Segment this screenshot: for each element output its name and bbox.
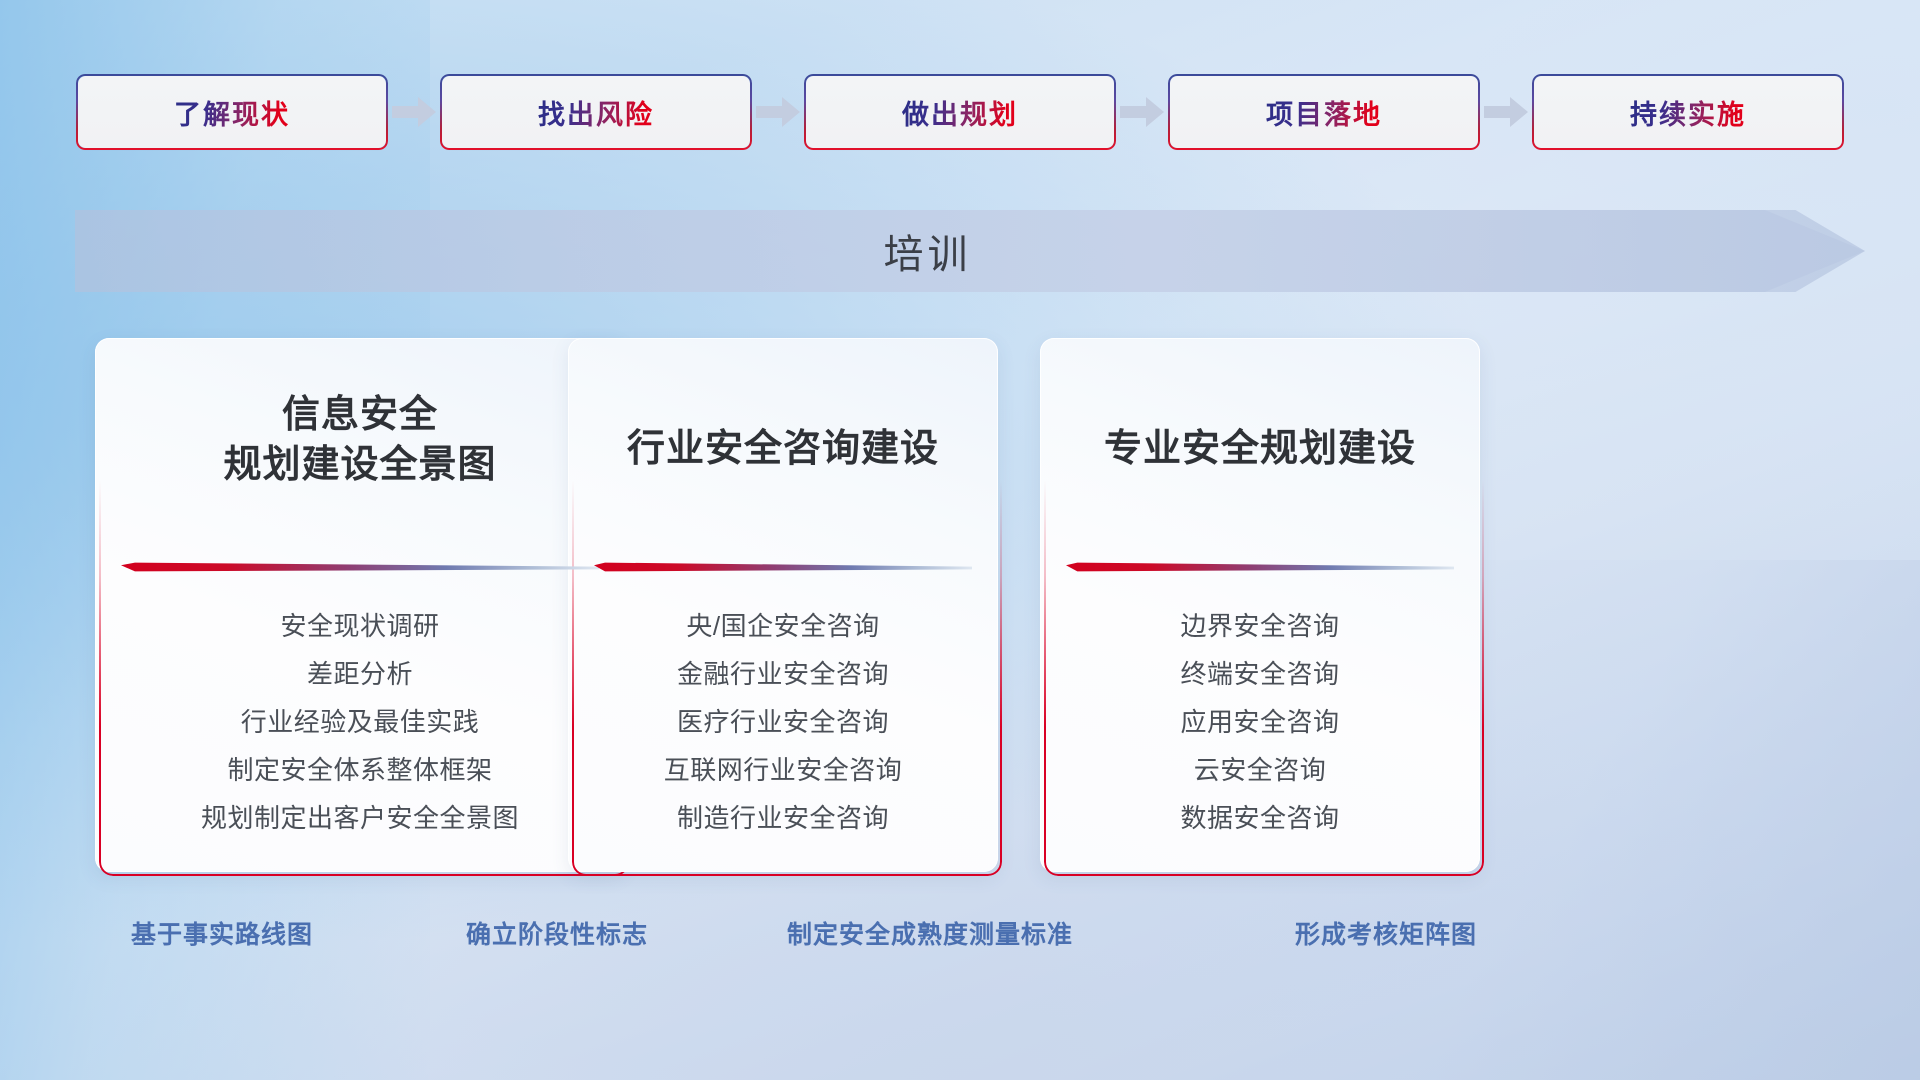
list-item: 制造行业安全咨询	[594, 794, 972, 842]
list-item: 行业经验及最佳实践	[121, 698, 599, 746]
card-title-zone: 信息安全 规划建设全景图	[121, 372, 599, 500]
caption-1: 基于事实路线图	[131, 915, 313, 951]
card-title: 行业安全咨询建设	[627, 424, 939, 474]
caption-2: 确立阶段性标志	[466, 915, 648, 951]
step-arrow-4	[1478, 76, 1534, 148]
right-arrow-icon	[756, 97, 800, 127]
list-item: 金融行业安全咨询	[594, 650, 972, 698]
list-item: 数据安全咨询	[1066, 794, 1454, 842]
step-chip-4[interactable]: 项目落地	[1170, 76, 1478, 148]
step-label: 项目落地	[1266, 93, 1382, 132]
step-arrow-3	[1114, 76, 1170, 148]
panel-card-3[interactable]: 专业安全规划建设	[1040, 338, 1480, 872]
panel-card-group: 信息安全 规划建设全景图	[0, 338, 1920, 872]
card-divider	[594, 562, 972, 576]
list-item: 终端安全咨询	[1066, 650, 1454, 698]
step-chip-3[interactable]: 做出规划	[806, 76, 1114, 148]
panel-card-1[interactable]: 信息安全 规划建设全景图	[95, 338, 625, 872]
process-step-row: 了解现状 找出风险 做出规划 项目落地	[0, 76, 1920, 148]
list-item: 央/国企安全咨询	[594, 602, 972, 650]
caption-3: 制定安全成熟度测量标准	[787, 915, 1073, 951]
step-chip-5[interactable]: 持续实施	[1534, 76, 1842, 148]
list-item: 差距分析	[121, 650, 599, 698]
step-label: 找出风险	[538, 93, 654, 132]
training-band-label: 培训	[75, 210, 1780, 292]
list-item: 规划制定出客户安全全景图	[121, 794, 599, 842]
step-label: 持续实施	[1630, 93, 1746, 132]
step-label: 做出规划	[902, 93, 1018, 132]
list-item: 互联网行业安全咨询	[594, 746, 972, 794]
slide-canvas: 了解现状 找出风险 做出规划 项目落地	[0, 0, 1920, 1080]
list-item: 医疗行业安全咨询	[594, 698, 972, 746]
panel-card-2[interactable]: 行业安全咨询建设	[568, 338, 998, 872]
step-chip-2[interactable]: 找出风险	[442, 76, 750, 148]
card-divider	[121, 562, 599, 576]
training-band: 培训	[75, 210, 1865, 292]
card-title: 信息安全 规划建设全景图	[223, 390, 496, 490]
step-arrow-2	[750, 76, 806, 148]
card-item-list: 安全现状调研 差距分析 行业经验及最佳实践 制定安全体系整体框架 规划制定出客户…	[121, 576, 599, 842]
caption-4: 形成考核矩阵图	[1295, 915, 1477, 951]
gradient-wedge-icon	[594, 562, 972, 576]
step-arrow-1	[386, 76, 442, 148]
list-item: 云安全咨询	[1066, 746, 1454, 794]
step-chip-1[interactable]: 了解现状	[78, 76, 386, 148]
card-item-list: 央/国企安全咨询 金融行业安全咨询 医疗行业安全咨询 互联网行业安全咨询 制造行…	[594, 576, 972, 842]
right-arrow-icon	[1120, 97, 1164, 127]
list-item: 边界安全咨询	[1066, 602, 1454, 650]
list-item: 应用安全咨询	[1066, 698, 1454, 746]
gradient-wedge-icon	[1066, 562, 1454, 576]
card-divider	[1066, 562, 1454, 576]
caption-row: 基于事实路线图 确立阶段性标志 制定安全成熟度测量标准 形成考核矩阵图	[0, 915, 1920, 975]
card-item-list: 边界安全咨询 终端安全咨询 应用安全咨询 云安全咨询 数据安全咨询	[1066, 576, 1454, 842]
gradient-wedge-icon	[121, 562, 599, 576]
card-title-zone: 行业安全咨询建设	[594, 372, 972, 500]
step-label: 了解现状	[174, 93, 290, 132]
right-arrow-icon	[392, 97, 436, 127]
card-title-zone: 专业安全规划建设	[1066, 372, 1454, 500]
card-title: 专业安全规划建设	[1104, 424, 1416, 474]
list-item: 安全现状调研	[121, 602, 599, 650]
right-arrow-icon	[1484, 97, 1528, 127]
list-item: 制定安全体系整体框架	[121, 746, 599, 794]
